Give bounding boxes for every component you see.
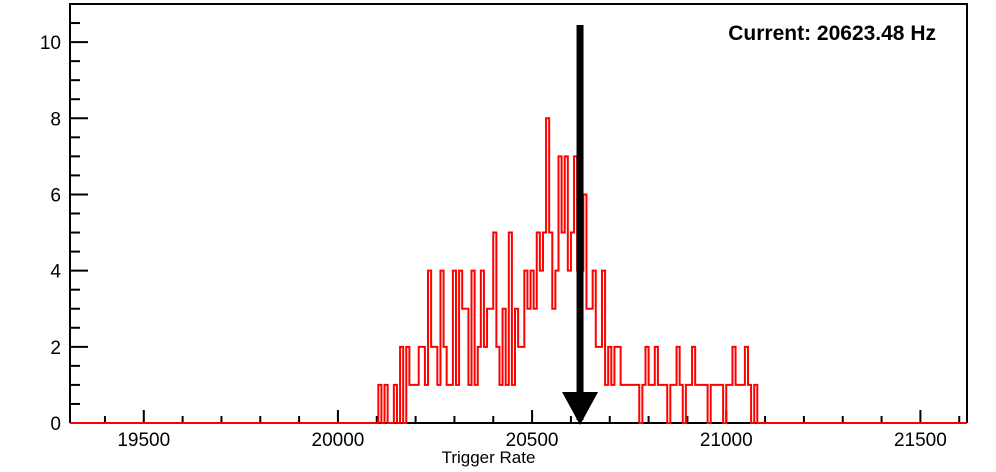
x-axis-tick-label: 21000 — [700, 430, 753, 451]
histogram-trace — [70, 118, 967, 423]
y-axis-tick-label: 4 — [50, 262, 61, 283]
current-rate-arrow-head — [562, 392, 598, 425]
x-axis-tick-label: 21500 — [894, 430, 947, 451]
root-canvas: 02468101950020000205002100021500Trigger … — [0, 0, 996, 472]
trigger-rate-histogram-plot: 02468101950020000205002100021500Trigger … — [0, 0, 996, 472]
y-axis-tick-label: 0 — [50, 414, 61, 435]
plot-frame — [70, 4, 967, 423]
y-axis-tick-label: 6 — [50, 185, 61, 206]
y-axis-tick-label: 2 — [50, 338, 61, 359]
y-axis-tick-label: 8 — [50, 109, 61, 130]
y-axis-tick-label: 10 — [40, 33, 61, 54]
x-axis-tick-label: 19500 — [117, 430, 170, 451]
current-rate-label: Current: 20623.48 Hz — [728, 22, 936, 45]
x-axis-title: Trigger Rate — [442, 448, 536, 467]
x-axis-tick-label: 20000 — [312, 430, 365, 451]
